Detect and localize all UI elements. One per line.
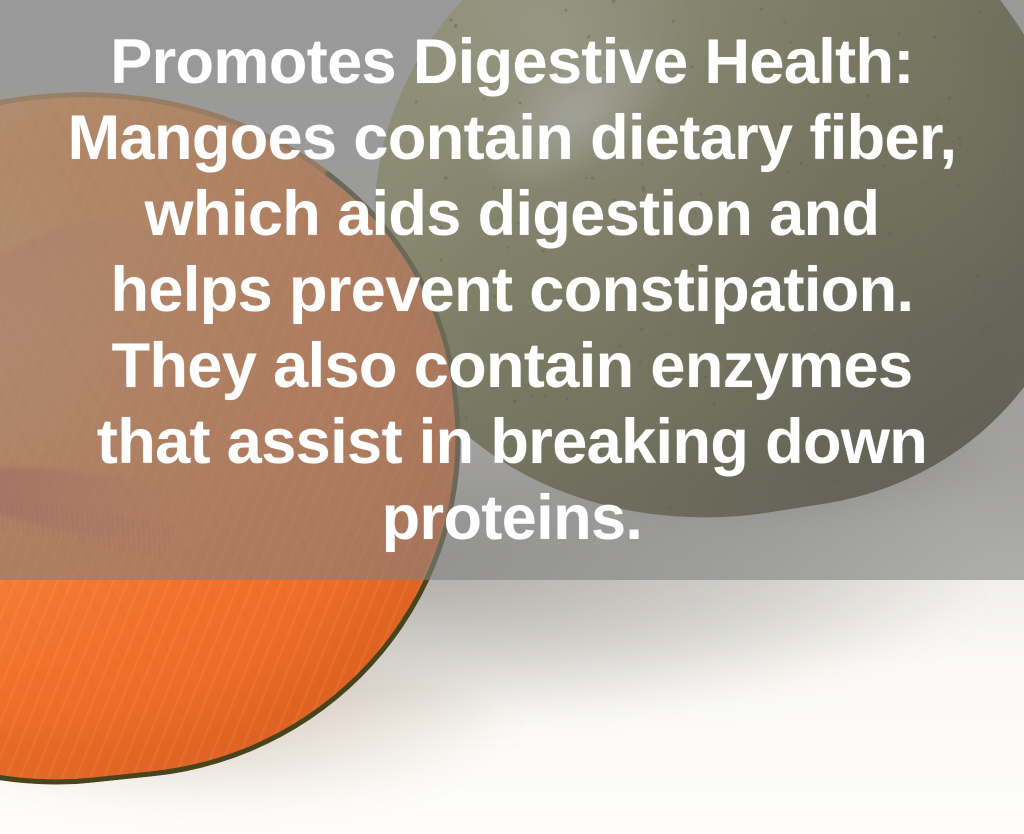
caption-line-2: Mangoes contain dietary fiber, [68,100,957,176]
caption-block: Promotes Digestive Health: Mangoes conta… [0,0,1024,580]
caption-line-1: Promotes Digestive Health: [110,24,914,100]
caption-line-3: which aids digestion and [145,176,880,252]
caption-line-6: that assist in breaking down [97,404,927,480]
caption-line-5: They also contain enzymes [112,328,913,404]
caption-line-4: helps prevent constipation. [111,252,914,328]
fact-card: Promotes Digestive Health: Mangoes conta… [0,0,1024,834]
caption-line-7: proteins. [382,480,643,556]
